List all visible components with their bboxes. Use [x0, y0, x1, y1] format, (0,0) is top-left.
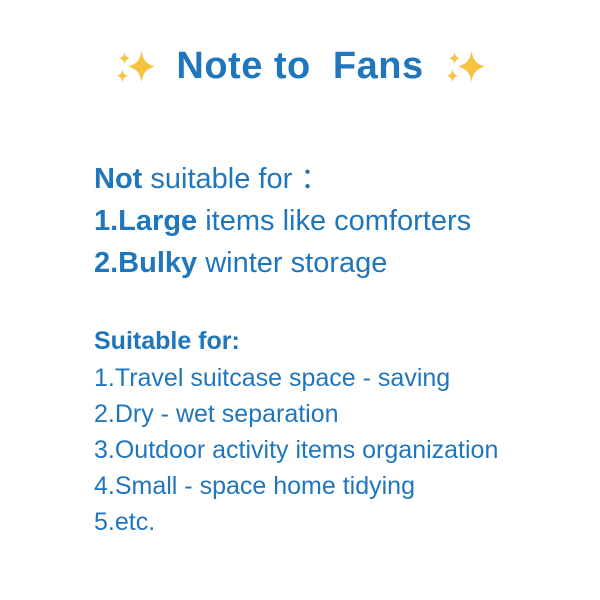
title-row: Note to Fans: [0, 44, 600, 90]
suitable-block: Suitable for: 1.Travel suitcase space - …: [94, 322, 498, 540]
not-suitable-item-2-bold: 2.Bulky: [94, 247, 197, 279]
not-suitable-heading-rest: suitable for ：: [142, 163, 329, 195]
not-suitable-heading-bold: Not: [94, 163, 142, 195]
not-suitable-heading: Not suitable for ：: [94, 158, 471, 200]
note-to-fans-graphic: Note to Fans Not suitable for ： 1.Large …: [0, 0, 600, 600]
not-suitable-item-1-rest: items like comforters: [197, 205, 471, 237]
sparkles-icon: [442, 44, 488, 90]
list-item: 1.Travel suitcase space - saving: [94, 360, 498, 396]
not-suitable-block: Not suitable for ： 1.Large items like co…: [94, 158, 471, 284]
suitable-heading: Suitable for:: [94, 322, 498, 360]
sparkles-icon: [112, 44, 158, 90]
list-item: 1.Large items like comforters: [94, 200, 471, 242]
list-item: 5.etc.: [94, 504, 498, 540]
list-item: 2.Bulky winter storage: [94, 242, 471, 284]
list-item: 2.Dry - wet separation: [94, 396, 498, 432]
not-suitable-item-1-bold: 1.Large: [94, 205, 197, 237]
list-item: 3.Outdoor activity items organization: [94, 432, 498, 468]
not-suitable-item-2-rest: winter storage: [197, 247, 387, 279]
page-title: Note to Fans: [176, 46, 423, 88]
list-item: 4.Small - space home tidying: [94, 468, 498, 504]
